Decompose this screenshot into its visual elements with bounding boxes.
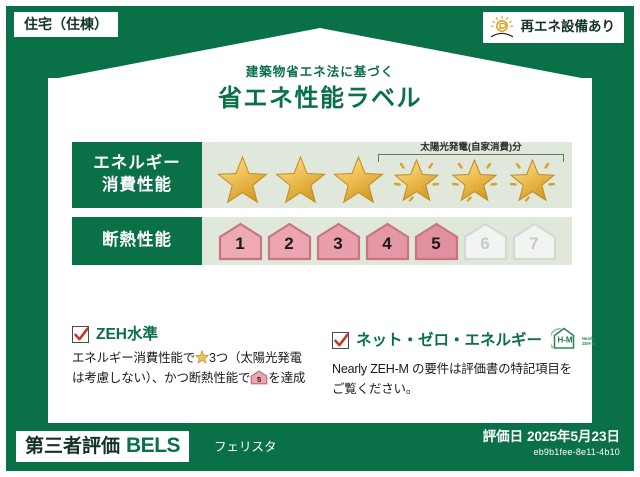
label-title-block: 建築物省エネ法に基づく 省エネ性能ラベル bbox=[6, 64, 634, 115]
renewable-badge-label: 再エネ設備あり bbox=[521, 20, 616, 35]
house-grade-number: 2 bbox=[284, 235, 293, 252]
net-zero-energy-title: ネット・ゼロ・エネルギー bbox=[356, 332, 542, 350]
label-footer: 第三者評価 BELS フェリスタ 評価日 2025年5月23日 eb9b1fee… bbox=[6, 423, 634, 471]
evaluation-id: eb9b1fee-8e11-4b10 bbox=[483, 447, 620, 458]
evaluation-info: 評価日 2025年5月23日 eb9b1fee-8e11-4b10 bbox=[483, 429, 620, 458]
house-grade-item: 3 bbox=[315, 221, 362, 261]
sun-solar-icon bbox=[488, 15, 516, 39]
house-grade-item-inactive: 7 bbox=[511, 221, 558, 261]
house-icon: 5 bbox=[250, 369, 268, 389]
certification-checks: ZEH水準 エネルギー消費性能で3つ（太陽光発電は考慮しない）、かつ断熱性能で5… bbox=[72, 326, 576, 400]
insulation-label-text: 断熱性能 bbox=[102, 230, 172, 252]
energy-performance-label: 住宅（住棟） bbox=[0, 0, 640, 477]
title-subtitle: 建築物省エネ法に基づく bbox=[6, 64, 634, 82]
property-name: フェリスタ bbox=[214, 441, 277, 455]
check-mark-icon bbox=[72, 326, 89, 343]
house-grade-number: 4 bbox=[382, 235, 391, 252]
house-grade-number: 1 bbox=[235, 235, 244, 252]
label-green-frame: 住宅（住棟） bbox=[6, 6, 634, 471]
insulation-performance-label: 断熱性能 bbox=[72, 217, 202, 265]
house-grade-item: 2 bbox=[266, 221, 313, 261]
house-grade-item-inactive: 6 bbox=[462, 221, 509, 261]
star-item bbox=[214, 154, 271, 204]
performance-ratings: エネルギー 消費性能 太陽光発電(自家消費)分 bbox=[72, 142, 572, 274]
energy-performance-row: エネルギー 消費性能 太陽光発電(自家消費)分 bbox=[72, 142, 572, 208]
bels-certification-box: 第三者評価 BELS bbox=[16, 431, 189, 462]
zeh-body-part1: エネルギー消費性能で bbox=[72, 351, 195, 365]
renewable-equipment-badge: 再エネ設備あり bbox=[483, 12, 625, 43]
zeh-standard-title: ZEH水準 bbox=[96, 326, 158, 344]
house-grade-item: 4 bbox=[364, 221, 411, 261]
page-title: 省エネ性能ラベル bbox=[6, 83, 634, 115]
net-zero-energy-body: Nearly ZEH-M の要件は評価書の特記項目をご覧ください。 bbox=[332, 360, 576, 400]
house-grade-number: 6 bbox=[480, 235, 489, 252]
check-mark-icon bbox=[332, 332, 349, 349]
net-zero-energy-section: ネット・ゼロ・エネルギー H-M Nearly ZEH-M Nearly ZEH… bbox=[332, 326, 576, 400]
house-grade-number: 3 bbox=[333, 235, 342, 252]
energy-label-line2: 消費性能 bbox=[102, 175, 172, 197]
svg-text:ZEH-M: ZEH-M bbox=[582, 341, 596, 346]
evaluation-date-label: 評価日 bbox=[483, 429, 524, 444]
zeh-body-part3: を達成 bbox=[268, 371, 305, 385]
evaluation-date: 評価日 2025年5月23日 bbox=[483, 429, 620, 445]
house-grade-list: 1 2 3 4 bbox=[202, 217, 572, 265]
evaluation-date-value: 2025年5月23日 bbox=[527, 429, 620, 444]
energy-performance-label: エネルギー 消費性能 bbox=[72, 142, 202, 208]
energy-star-rating: 太陽光発電(自家消費)分 bbox=[202, 142, 572, 208]
bels-jp-label: 第三者評価 bbox=[25, 437, 120, 458]
zeh-standard-body: エネルギー消費性能で3つ（太陽光発電は考慮しない）、かつ断熱性能で5を達成 bbox=[72, 349, 314, 389]
solar-bracket bbox=[378, 154, 564, 162]
svg-text:H-M: H-M bbox=[557, 336, 572, 345]
house-grade-number: 5 bbox=[431, 235, 440, 252]
net-zero-energy-header: ネット・ゼロ・エネルギー H-M Nearly ZEH-M bbox=[332, 326, 576, 355]
insulation-performance-row: 断熱性能 1 2 3 bbox=[72, 217, 572, 265]
solar-generation-annotation: 太陽光発電(自家消費)分 bbox=[378, 143, 564, 162]
energy-label-line1: エネルギー bbox=[93, 153, 181, 175]
nearly-zeh-m-logo: H-M Nearly ZEH-M bbox=[549, 326, 599, 355]
star-icon bbox=[195, 351, 209, 365]
bels-en-label: BELS bbox=[126, 434, 180, 457]
house-grade-item: 1 bbox=[217, 221, 264, 261]
housing-type-tag: 住宅（住棟） bbox=[14, 12, 118, 37]
zeh-standard-header: ZEH水準 bbox=[72, 326, 314, 344]
insulation-grade-scale: 1 2 3 4 bbox=[202, 217, 572, 265]
svg-text:5: 5 bbox=[257, 375, 261, 384]
solar-annotation-text: 太陽光発電(自家消費)分 bbox=[378, 143, 564, 153]
house-grade-number: 7 bbox=[529, 235, 538, 252]
house-grade-item-current: 5 bbox=[413, 221, 460, 261]
star-item bbox=[272, 154, 329, 204]
zeh-standard-section: ZEH水準 エネルギー消費性能で3つ（太陽光発電は考慮しない）、かつ断熱性能で5… bbox=[72, 326, 314, 400]
